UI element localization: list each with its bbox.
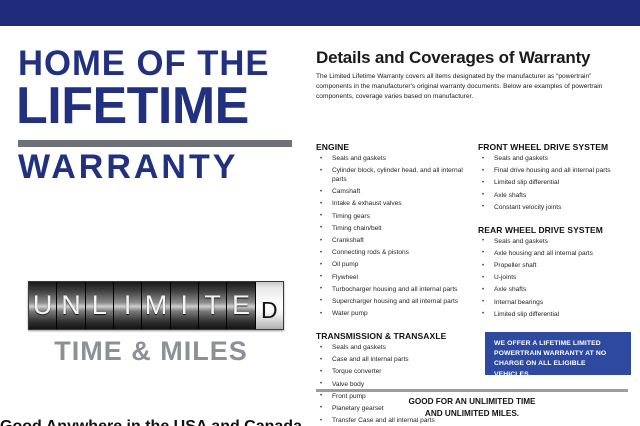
section-heading-transmission: TRANSMISSION & TRANSAXLE <box>316 331 479 341</box>
details-title: Details and Coverages of Warranty <box>316 48 590 68</box>
odometer-cell: I <box>114 282 142 329</box>
list-item: Internal bearings <box>478 299 630 308</box>
coverage-list-engine: Seals and gaskets Cylinder block, cylind… <box>316 155 479 319</box>
list-item: Limited slip differential <box>478 179 630 188</box>
odometer-graphic: U N L I M I T E D <box>28 281 284 330</box>
list-item: Limited slip differential <box>478 311 630 320</box>
bottom-note-line-1: GOOD FOR AN UNLIMITED TIME <box>316 396 628 408</box>
list-item: Axle shafts <box>478 192 630 201</box>
list-item: Turbocharger housing and all internal pa… <box>316 286 479 295</box>
odometer-char: L <box>92 292 107 319</box>
headline-divider-bar <box>18 140 292 147</box>
list-item: Cylinder block, cylinder head, and all i… <box>316 167 479 185</box>
bottom-divider-rule <box>316 389 628 392</box>
list-item: U-joints <box>478 274 630 283</box>
odometer-char: U <box>33 292 53 319</box>
warranty-flyer: HOME OF THE LIFETIME WARRANTY U N L I M … <box>0 0 640 426</box>
section-heading-front-wheel-drive: FRONT WHEEL DRIVE SYSTEM <box>478 142 630 152</box>
coverage-list-rear-wheel-drive: Seals and gaskets Axle housing and all i… <box>478 238 630 320</box>
headline-line-2: LIFETIME <box>16 80 296 132</box>
top-accent-bar <box>0 0 640 26</box>
odometer-char: M <box>145 292 168 319</box>
list-item: Timing gears <box>316 213 479 222</box>
coverage-list-front-wheel-drive: Seals and gaskets Final drive housing an… <box>478 155 630 213</box>
odometer-cell: E <box>227 282 255 329</box>
list-item: Seals and gaskets <box>316 344 479 353</box>
odometer-cell: I <box>171 282 199 329</box>
odometer-char: N <box>61 292 81 319</box>
list-item: Water pump <box>316 310 479 319</box>
odometer-cell: T <box>199 282 227 329</box>
odometer-char: E <box>232 292 250 319</box>
odometer-char: D <box>261 299 278 322</box>
odometer-cell: N <box>57 282 85 329</box>
list-item: Axle shafts <box>478 286 630 295</box>
list-item: Seals and gaskets <box>478 155 630 164</box>
bottom-note: GOOD FOR AN UNLIMITED TIME AND UNLIMITED… <box>316 396 628 420</box>
list-item: Camshaft <box>316 188 479 197</box>
list-item: Supercharger housing and all internal pa… <box>316 298 479 307</box>
odometer-cell-last: D <box>256 282 283 329</box>
odometer-char: T <box>204 292 221 319</box>
odometer-char: I <box>181 292 189 319</box>
promo-panel: HOME OF THE LIFETIME WARRANTY U N L I M … <box>0 26 302 426</box>
list-item: Connecting rods & pistons <box>316 249 479 258</box>
section-heading-engine: ENGINE <box>316 142 479 152</box>
list-item: Intake & exhaust valves <box>316 200 479 209</box>
list-item: Seals and gaskets <box>478 238 630 247</box>
details-intro-paragraph: The Limited Lifetime Warranty covers all… <box>316 72 628 103</box>
odometer-char: I <box>124 292 132 319</box>
coverage-column-left: ENGINE Seals and gaskets Cylinder block,… <box>316 142 479 426</box>
list-item: Torque converter <box>316 368 479 377</box>
coverage-column-right: FRONT WHEEL DRIVE SYSTEM Seals and gaske… <box>478 142 630 323</box>
headline-line-3: WARRANTY <box>18 150 294 184</box>
list-item: Final drive housing and all internal par… <box>478 167 630 176</box>
lifetime-warranty-callout: WE OFFER A LIFETIME LIMITED POWERTRAIN W… <box>485 332 631 375</box>
odometer-cell: M <box>142 282 170 329</box>
list-item: Seals and gaskets <box>316 155 479 164</box>
time-and-miles-label: TIME & MILES <box>0 336 302 367</box>
odometer-cell: L <box>86 282 114 329</box>
list-item: Propeller shaft <box>478 262 630 271</box>
list-item: Case and all internal parts <box>316 356 479 365</box>
list-item: Constant velocity joints <box>478 204 630 213</box>
list-item: Crankshaft <box>316 237 479 246</box>
headline-line-1: HOME OF THE <box>18 46 291 81</box>
list-item: Oil pump <box>316 261 479 270</box>
odometer-cell: U <box>29 282 57 329</box>
section-heading-rear-wheel-drive: REAR WHEEL DRIVE SYSTEM <box>478 225 630 235</box>
list-item: Flywheel <box>316 274 479 283</box>
coverage-area-tagline: Good Anywhere in the USA and Canada <box>0 418 302 426</box>
bottom-note-line-2: AND UNLIMITED MILES. <box>316 408 628 420</box>
list-item: Timing chain/belt <box>316 225 479 234</box>
list-item: Axle housing and all internal parts <box>478 250 630 259</box>
